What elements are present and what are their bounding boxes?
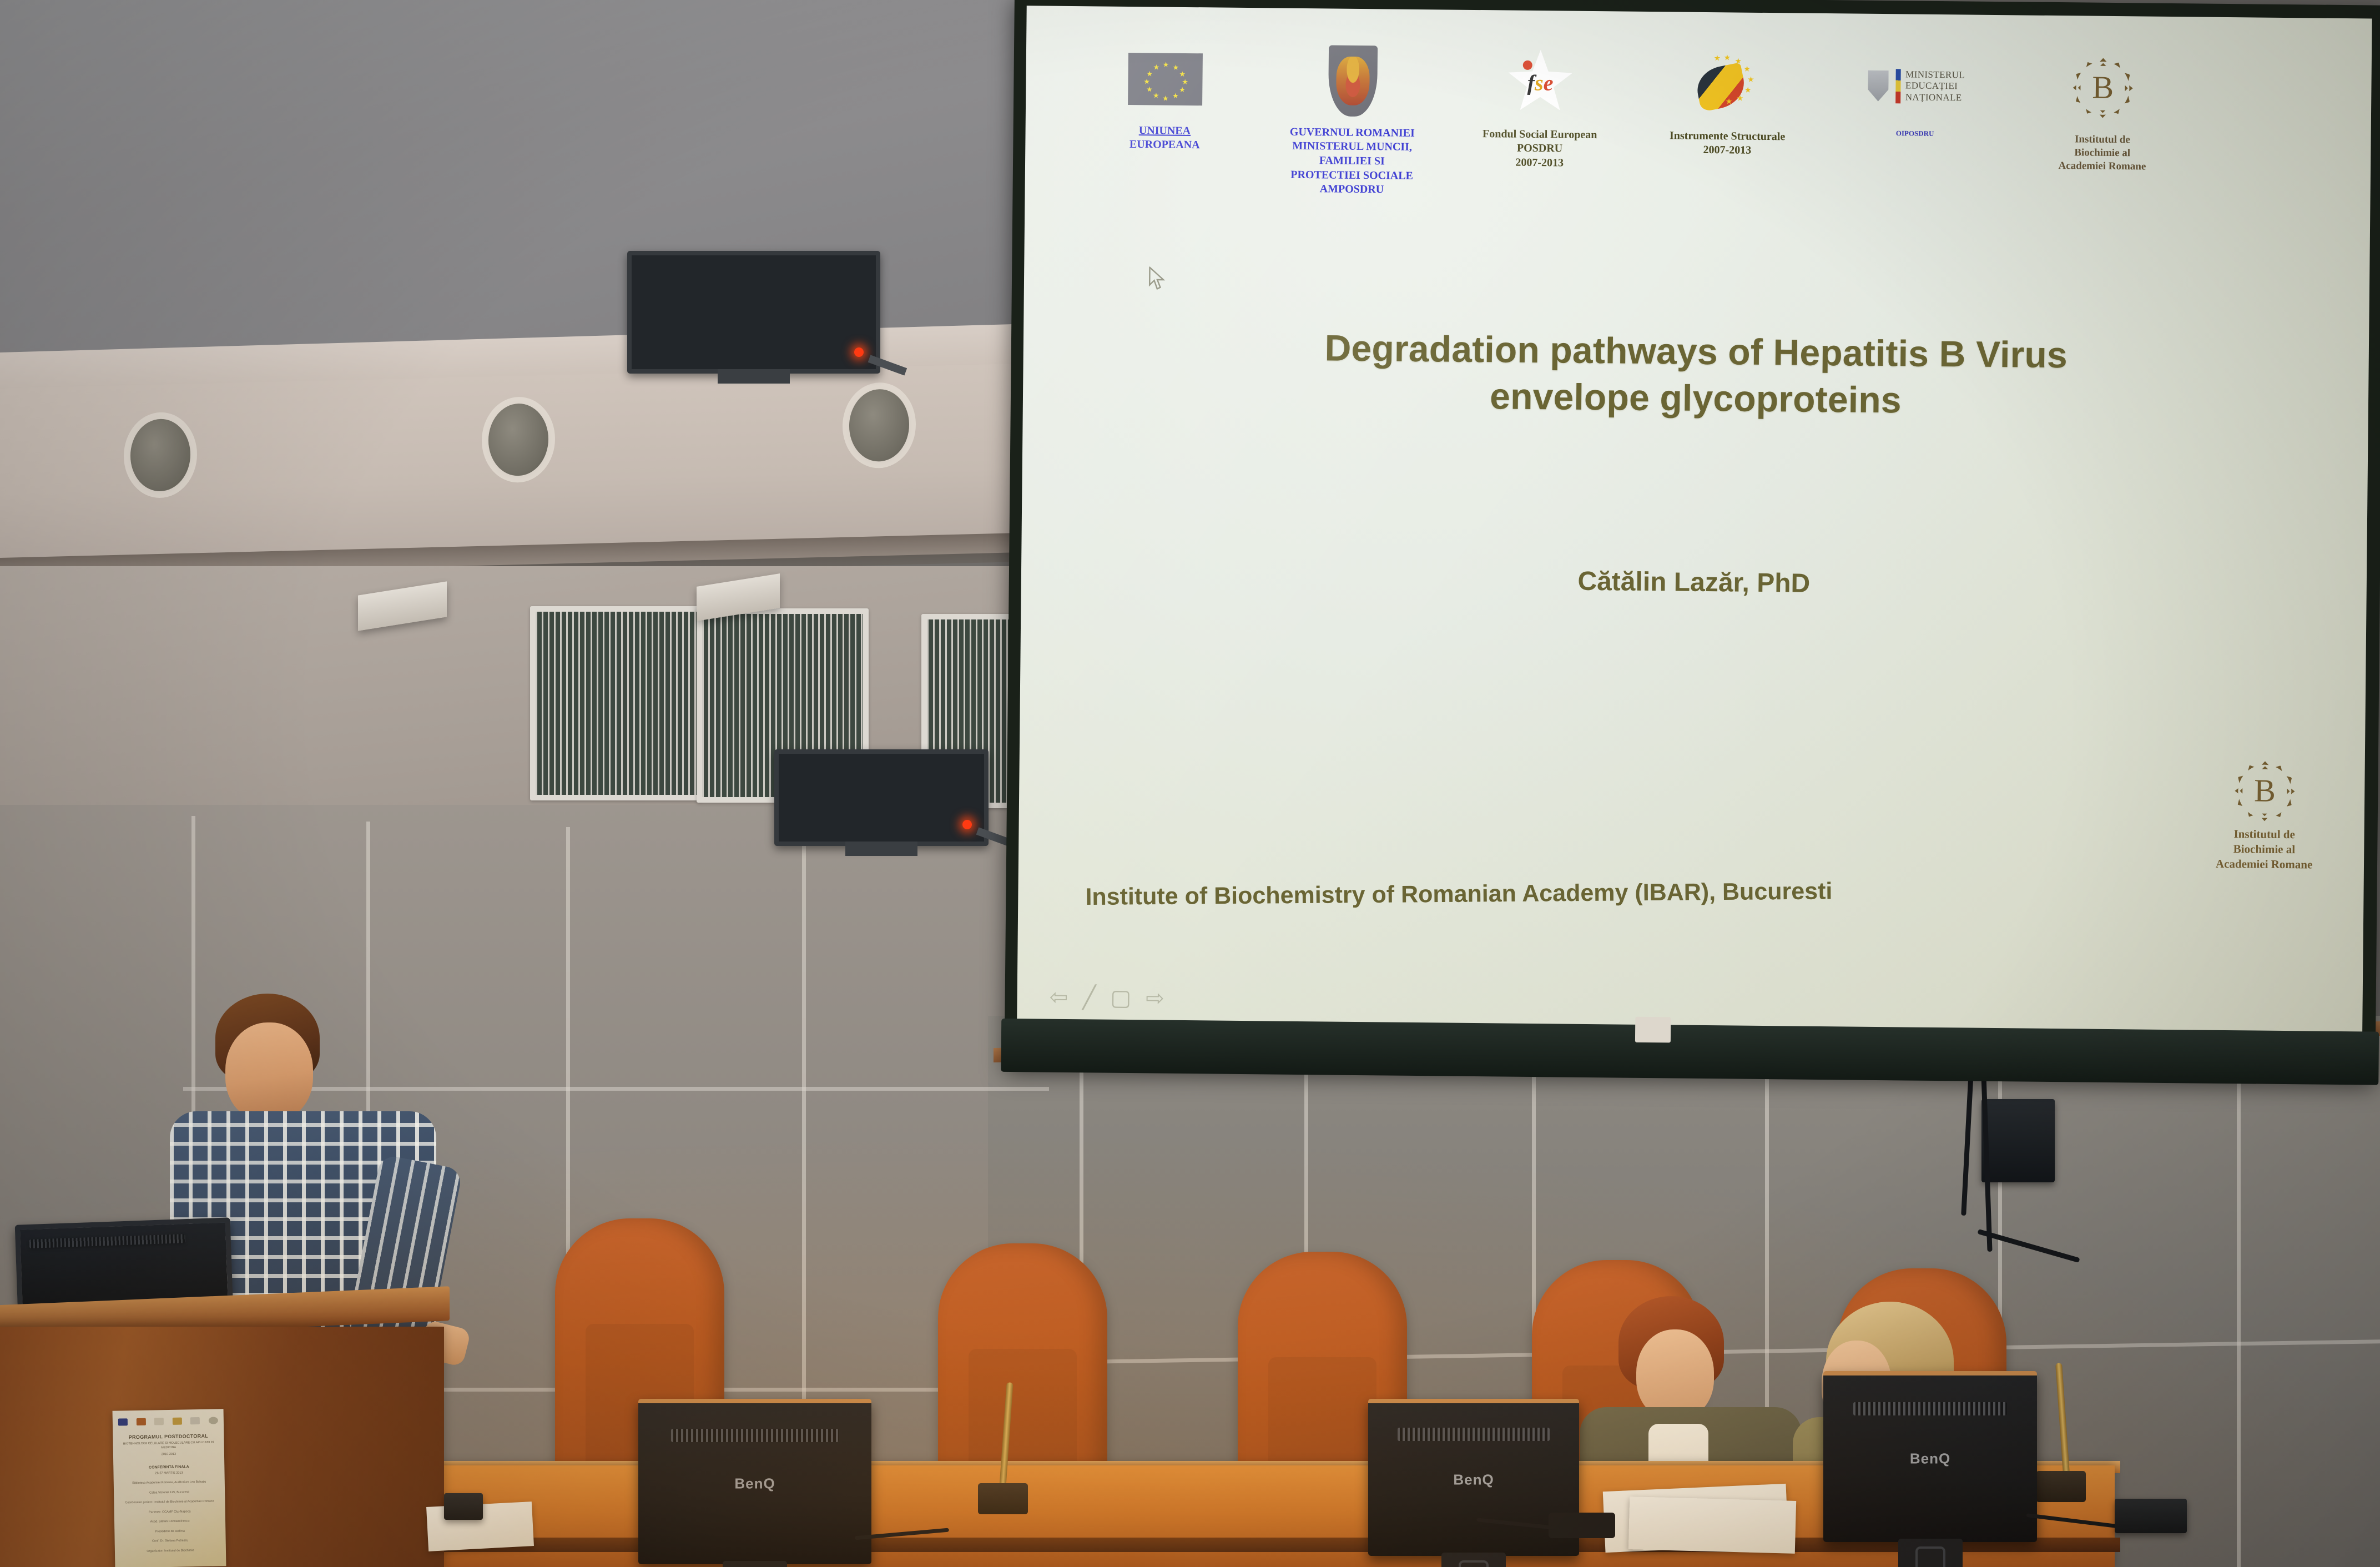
flyer-venue-line1: Biblioteca Academiei Romane, Auditorium … bbox=[119, 1479, 219, 1486]
logo-romanian-government: GUVERNUL ROMANIEI MINISTERUL MUNCII, FAM… bbox=[1269, 41, 1436, 198]
desk-monitor-right: BenQ bbox=[1368, 1399, 1579, 1556]
logo-caption: OIPOSDRU bbox=[1896, 129, 1934, 138]
flyer-logo-fse-icon bbox=[154, 1418, 164, 1425]
pen-annotation-icon[interactable]: ╱ bbox=[1082, 985, 1096, 1011]
logo-ministerul-educatiei: MINISTERUL EDUCAȚIEI NAȚIONALE OIPOSDRU bbox=[1832, 46, 1999, 139]
slide-institute-line: Institute of Biochemistry of Romanian Ac… bbox=[1085, 878, 1832, 911]
fse-letter-f: f bbox=[1527, 70, 1535, 95]
fse-letter-e: e bbox=[1544, 70, 1554, 95]
fse-star-icon: fse bbox=[1506, 43, 1574, 122]
logo-fse: fse Fondul Social European POSDRU 2007-2… bbox=[1457, 42, 1623, 171]
slide-author: Cătălin Lazăr, PhD bbox=[1129, 562, 2260, 603]
monitor-bracket bbox=[718, 369, 790, 384]
logo-ibar-header: B Institutul de Biochimie al Academiei R… bbox=[2019, 48, 2186, 174]
romania-coat-of-arms-icon bbox=[1328, 41, 1378, 120]
flyer-logo-instrumente-icon bbox=[173, 1418, 182, 1425]
microphone-base-2 bbox=[2036, 1471, 2086, 1502]
small-box-on-shelf bbox=[444, 1493, 483, 1520]
flyer-org-line4: Presedinte de sedinta bbox=[120, 1528, 220, 1535]
logo-caption: GUVERNUL ROMANIEI MINISTERUL MUNCII, FAM… bbox=[1269, 125, 1435, 198]
ceiling-speaker-2 bbox=[488, 403, 548, 477]
podium-flyer: PROGRAMUL POSTDOCTORAL BIOTEHNOLOGII CEL… bbox=[113, 1409, 226, 1567]
equipment-box-on-desk bbox=[2115, 1499, 2187, 1533]
conference-hall-photo: ★ ★ ★ ★ ★ ★ ★ ★ ★ ★ ★ ★ bbox=[0, 0, 2380, 1567]
flyer-logo-row bbox=[118, 1417, 218, 1425]
monitor-vent-grille bbox=[1853, 1402, 2007, 1415]
flyer-logo-ministry-icon bbox=[190, 1417, 200, 1424]
monitor-stand bbox=[1898, 1539, 1963, 1567]
flyer-org-line6: Organizator: Institutul de Biochimie bbox=[120, 1548, 220, 1554]
flyer-org-line1: Coordonator proiect: Institutul de Bioch… bbox=[119, 1499, 219, 1505]
instrumente-structurale-icon: ★ ★ ★ ★ ★ ★ ★ ★ bbox=[1691, 44, 1764, 124]
wall-monitor-upper-left bbox=[627, 251, 880, 374]
previous-slide-icon[interactable]: ⇦ bbox=[1050, 985, 1068, 1010]
power-led-icon bbox=[854, 347, 864, 357]
power-led-icon bbox=[962, 820, 972, 829]
slide-menu-icon[interactable]: ▢ bbox=[1110, 985, 1131, 1011]
flyer-org-line3: Acad. Stefan Constantinescu bbox=[120, 1518, 220, 1525]
slide-footer-ibar-logo: B Institutul de Biochimie al Academiei R… bbox=[2211, 760, 2318, 873]
logo-caption: Fondul Social European POSDRU 2007-2013 bbox=[1482, 127, 1597, 171]
ministerul-educatiei-nationale-icon: MINISTERUL EDUCAȚIEI NAȚIONALE bbox=[1865, 46, 1965, 126]
fse-letter-s: s bbox=[1535, 70, 1544, 95]
footer-logo-caption: Institutul de Biochimie al Academiei Rom… bbox=[2216, 826, 2313, 873]
monitor-brand-logo: BenQ bbox=[734, 1475, 775, 1493]
flyer-subtitle: BIOTEHNOLOGII CELULARE SI MOLECULARE CU … bbox=[119, 1440, 219, 1451]
presentation-slide[interactable]: ★ ★ ★ ★ ★ ★ ★ ★ ★ ★ ★ ★ bbox=[1017, 6, 2372, 1037]
logo-caption: Institutul de Biochimie al Academiei Rom… bbox=[2058, 133, 2146, 174]
microphone-base-1 bbox=[978, 1483, 1028, 1514]
desk-monitor-left: BenQ bbox=[638, 1399, 871, 1564]
logo-instrumente-structurale: ★ ★ ★ ★ ★ ★ ★ ★ Instrumente Structurale … bbox=[1645, 44, 1811, 159]
ibar-sunburst-b-icon: B bbox=[2073, 48, 2133, 128]
projection-screen: ★ ★ ★ ★ ★ ★ ★ ★ ★ ★ ★ ★ bbox=[1004, 0, 2380, 1080]
european-union-flag-icon: ★ ★ ★ ★ ★ ★ ★ ★ ★ ★ ★ ★ bbox=[1128, 39, 1203, 119]
sponsor-logo-row: ★ ★ ★ ★ ★ ★ ★ ★ ★ ★ ★ ★ bbox=[1081, 39, 2186, 205]
logo-caption: UNIUNEA EUROPEANA bbox=[1130, 124, 1200, 153]
monitor-bracket bbox=[845, 842, 917, 856]
ceiling-speaker-3 bbox=[849, 389, 909, 462]
monitor-brand-logo: BenQ bbox=[1453, 1471, 1494, 1488]
slide-title: Degradation pathways of Hepatitis B Viru… bbox=[1131, 323, 2262, 427]
flyer-event-date: 26-27 MARTIE 2013 bbox=[119, 1470, 219, 1476]
flyer-years: 2010-2013 bbox=[119, 1451, 219, 1457]
monitor-vent-grille bbox=[1398, 1428, 1550, 1441]
desk-monitor-far-right: BenQ bbox=[1823, 1371, 2037, 1542]
wall-monitor-lower-left bbox=[774, 749, 989, 846]
papers-on-desk bbox=[1628, 1497, 1796, 1554]
flyer-logo-romania-icon bbox=[136, 1418, 145, 1425]
monitor-stand bbox=[1441, 1553, 1506, 1567]
romania-tricolor-bar-icon bbox=[1895, 69, 1901, 103]
flyer-logo-eu-icon bbox=[118, 1418, 128, 1425]
ceiling-speaker-1 bbox=[130, 419, 190, 492]
flyer-org-line2: Partener: CCAMF Cluj-Napoca bbox=[120, 1509, 220, 1515]
crest-icon bbox=[1866, 70, 1891, 101]
flyer-title: PROGRAMUL POSTDOCTORAL bbox=[118, 1433, 218, 1440]
logo-european-union: ★ ★ ★ ★ ★ ★ ★ ★ ★ ★ ★ ★ bbox=[1082, 39, 1248, 153]
next-slide-icon[interactable]: ⇨ bbox=[1146, 986, 1164, 1011]
flyer-logo-ibar-icon bbox=[209, 1417, 218, 1424]
monitor-brand-logo: BenQ bbox=[1910, 1450, 1950, 1468]
mouse-cursor-icon bbox=[1148, 266, 1167, 291]
ibar-sunburst-b-icon: B bbox=[2235, 761, 2295, 822]
monitor-stand bbox=[723, 1561, 787, 1567]
logo-caption: Instrumente Structurale 2007-2013 bbox=[1670, 129, 1786, 158]
flyer-event: CONFERINTA FINALA bbox=[119, 1464, 219, 1470]
screen-label-tab bbox=[1635, 1017, 1671, 1043]
flyer-venue-line2: Calea Victoriei 125, Bucuresti bbox=[119, 1489, 219, 1496]
presenter-face bbox=[225, 1022, 313, 1121]
slideshow-nav-toolbar[interactable]: ⇦ ╱ ▢ ⇨ bbox=[1050, 985, 1164, 1011]
monitor-vent-grille bbox=[671, 1429, 839, 1442]
ministry-name: MINISTERUL EDUCAȚIEI NAȚIONALE bbox=[1905, 69, 1965, 104]
phone-on-desk bbox=[1549, 1513, 1615, 1538]
wall-speaker-box bbox=[1981, 1099, 2055, 1182]
flyer-org-line5: Conf. Dr. Stefana Petrescu bbox=[120, 1538, 220, 1545]
ventilation-grille-1 bbox=[530, 606, 702, 800]
wall-seam bbox=[2237, 1079, 2241, 1567]
woman-left-face bbox=[1636, 1329, 1714, 1419]
monitor-vent-grille bbox=[29, 1234, 186, 1248]
